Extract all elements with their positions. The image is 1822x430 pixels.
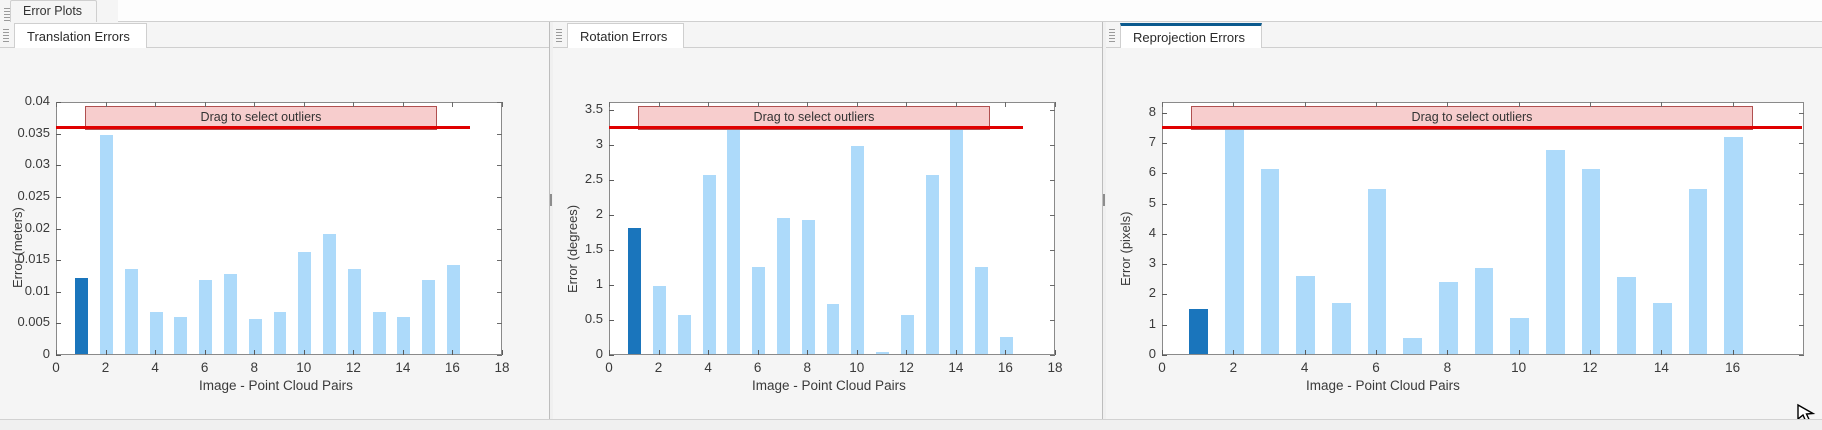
status-bar [0, 419, 1822, 430]
x-tick-mark-top [1162, 102, 1163, 107]
bar[interactable] [1653, 303, 1672, 354]
y-tick-mark [1162, 264, 1167, 265]
y-tick-mark [56, 134, 61, 135]
y-tick-label: 1 [1106, 316, 1156, 331]
y-tick-mark-right [1799, 294, 1804, 295]
x-tick-label: 16 [985, 360, 1025, 375]
x-tick-mark [1233, 350, 1234, 355]
tabbar-translation: Translation Errors [0, 22, 549, 48]
bar[interactable] [777, 218, 790, 354]
outer-tab-strip: Error Plots [0, 0, 1822, 23]
y-tick-mark [56, 355, 61, 356]
x-tick-mark [1590, 350, 1591, 355]
x-tick-mark [1447, 350, 1448, 355]
x-tick-mark [1305, 350, 1306, 355]
y-axis-label-reprojection: Error (pixels) [1118, 212, 1133, 286]
pane-translation-errors: Translation Errors Error (meters) Image … [0, 22, 549, 430]
x-tick-mark [659, 350, 660, 355]
x-tick-mark [1376, 350, 1377, 355]
x-tick-label: 0 [589, 360, 629, 375]
x-tick-label: 2 [639, 360, 679, 375]
x-tick-mark-top [56, 102, 57, 107]
bar[interactable] [1261, 169, 1280, 354]
y-tick-label: 5 [1106, 195, 1156, 210]
y-tick-mark-right [1050, 285, 1055, 286]
y-tick-mark [609, 250, 614, 251]
bar[interactable] [1617, 277, 1636, 354]
bar[interactable] [199, 280, 212, 354]
y-tick-label: 1 [553, 276, 603, 291]
x-tick-label: 12 [333, 360, 373, 375]
x-tick-label: 6 [185, 360, 225, 375]
bar[interactable] [1546, 150, 1565, 354]
x-tick-label: 16 [1713, 360, 1753, 375]
x-tick-mark [857, 350, 858, 355]
tabbar-rotation: Rotation Errors [553, 22, 1102, 48]
bar[interactable] [1475, 268, 1494, 354]
bar[interactable] [1510, 318, 1529, 354]
bar[interactable] [1689, 189, 1708, 354]
outer-tab-strip-filler [118, 0, 1822, 22]
bar[interactable] [224, 274, 237, 354]
y-tick-label: 1.5 [553, 241, 603, 256]
y-tick-label: 2.5 [553, 171, 603, 186]
outlier-threshold-line-reprojection[interactable] [1162, 126, 1802, 129]
x-tick-mark-top [807, 102, 808, 107]
bar[interactable] [950, 128, 963, 354]
y-tick-mark-right [497, 134, 502, 135]
x-tick-mark [609, 350, 610, 355]
y-tick-label: 3 [1106, 255, 1156, 270]
x-tick-mark-top [857, 102, 858, 107]
bar[interactable] [827, 304, 840, 354]
x-tick-mark-top [1447, 102, 1448, 107]
x-tick-label: 10 [284, 360, 324, 375]
y-tick-mark [1162, 355, 1167, 356]
y-tick-mark-right [1799, 355, 1804, 356]
x-tick-mark-top [155, 102, 156, 107]
outlier-slider-label: Drag to select outliers [201, 110, 322, 124]
x-tick-mark-top [956, 102, 957, 107]
bar[interactable] [373, 312, 386, 354]
bar[interactable] [1368, 189, 1387, 354]
bar[interactable] [1724, 137, 1743, 354]
x-tick-mark-top [906, 102, 907, 107]
x-tick-mark [106, 350, 107, 355]
pane-drag-grip-icon[interactable] [556, 29, 562, 42]
x-tick-label: 4 [135, 360, 175, 375]
y-tick-label: 0 [553, 346, 603, 361]
x-tick-mark [1733, 350, 1734, 355]
bar[interactable] [926, 175, 939, 354]
x-tick-label: 14 [383, 360, 423, 375]
bar[interactable] [1332, 303, 1351, 354]
axes-translation [56, 102, 502, 355]
x-tick-label: 4 [688, 360, 728, 375]
pane-reprojection-errors: Reprojection Errors Error (pixels) Image… [1106, 22, 1822, 430]
x-tick-label: 14 [1641, 360, 1681, 375]
y-tick-mark-right [497, 197, 502, 198]
splitter-handle-icon[interactable] [550, 194, 552, 206]
y-tick-mark-right [497, 323, 502, 324]
bar[interactable] [422, 280, 435, 354]
y-tick-label: 0.02 [0, 220, 50, 235]
y-tick-label: 2 [1106, 285, 1156, 300]
x-tick-mark [807, 350, 808, 355]
y-tick-mark [609, 355, 614, 356]
splitter-handle-icon[interactable] [1103, 194, 1105, 206]
x-tick-mark [906, 350, 907, 355]
pane-rotation-errors: Rotation Errors Error (degrees) Image - … [553, 22, 1102, 430]
y-tick-mark [1162, 173, 1167, 174]
x-tick-mark [254, 350, 255, 355]
x-tick-label: 12 [886, 360, 926, 375]
y-tick-mark [1162, 204, 1167, 205]
bar[interactable] [703, 175, 716, 354]
y-tick-mark-right [1799, 173, 1804, 174]
x-tick-mark-top [106, 102, 107, 107]
x-tick-mark-top [1233, 102, 1234, 107]
bar[interactable] [397, 317, 410, 354]
tab-translation-errors[interactable]: Translation Errors [14, 23, 147, 50]
x-tick-label: 6 [1356, 360, 1396, 375]
outlier-threshold-line-rotation[interactable] [609, 126, 1023, 129]
plot-translation-errors: Error (meters) Image - Point Cloud Pairs… [0, 48, 549, 430]
y-tick-label: 8 [1106, 104, 1156, 119]
y-tick-mark-right [1050, 320, 1055, 321]
x-axis-label-translation: Image - Point Cloud Pairs [199, 378, 353, 393]
x-tick-mark [304, 350, 305, 355]
y-tick-mark-right [497, 292, 502, 293]
y-tick-label: 3 [553, 136, 603, 151]
y-tick-label: 0.01 [0, 283, 50, 298]
x-tick-label: 8 [787, 360, 827, 375]
y-tick-mark-right [1799, 325, 1804, 326]
bar[interactable] [678, 315, 691, 354]
x-tick-mark-top [254, 102, 255, 107]
y-tick-mark-right [1050, 250, 1055, 251]
x-tick-mark [155, 350, 156, 355]
outlier-slider-label: Drag to select outliers [754, 110, 875, 124]
x-tick-mark-top [1055, 102, 1056, 107]
y-tick-mark [1162, 294, 1167, 295]
x-tick-label: 10 [837, 360, 877, 375]
x-tick-mark [205, 350, 206, 355]
bar[interactable] [298, 252, 311, 354]
plot-reprojection-errors: Error (pixels) Image - Point Cloud Pairs… [1106, 48, 1822, 430]
y-tick-label: 0.005 [0, 314, 50, 329]
y-tick-label: 0.035 [0, 125, 50, 140]
y-tick-label: 3.5 [553, 101, 603, 116]
x-tick-mark [56, 350, 57, 355]
x-tick-mark-top [205, 102, 206, 107]
axes-rotation [609, 102, 1055, 355]
bar[interactable] [75, 278, 88, 354]
x-tick-mark-top [609, 102, 610, 107]
y-tick-mark [1162, 234, 1167, 235]
bar[interactable] [975, 267, 988, 354]
y-tick-label: 0.5 [553, 311, 603, 326]
x-tick-label: 12 [1570, 360, 1610, 375]
y-tick-mark [56, 292, 61, 293]
x-tick-label: 0 [1142, 360, 1182, 375]
plot-rotation-errors: Error (degrees) Image - Point Cloud Pair… [553, 48, 1102, 430]
x-tick-mark-top [452, 102, 453, 107]
bar[interactable] [752, 267, 765, 354]
bar[interactable] [174, 317, 187, 354]
tab-error-plots-label: Error Plots [23, 4, 82, 18]
x-tick-mark-top [659, 102, 660, 107]
x-tick-mark [1005, 350, 1006, 355]
x-tick-mark [956, 350, 957, 355]
x-tick-mark-top [708, 102, 709, 107]
y-tick-mark [1162, 113, 1167, 114]
x-tick-mark-top [403, 102, 404, 107]
y-tick-mark-right [1799, 264, 1804, 265]
bar[interactable] [1582, 169, 1601, 354]
x-tick-mark-top [1733, 102, 1734, 107]
tab-translation-errors-label: Translation Errors [27, 29, 130, 44]
y-tick-label: 0.04 [0, 93, 50, 108]
x-tick-mark [452, 350, 453, 355]
y-tick-mark [1162, 143, 1167, 144]
y-tick-label: 4 [1106, 225, 1156, 240]
x-tick-label: 18 [1035, 360, 1075, 375]
y-tick-mark-right [1050, 145, 1055, 146]
y-tick-mark [609, 320, 614, 321]
tab-error-plots[interactable]: Error Plots [10, 0, 97, 22]
x-tick-mark [708, 350, 709, 355]
y-tick-label: 0.03 [0, 156, 50, 171]
pane-drag-grip-icon[interactable] [3, 29, 9, 42]
tab-rotation-errors[interactable]: Rotation Errors [567, 23, 684, 50]
bar[interactable] [1000, 337, 1013, 354]
y-tick-mark-right [1799, 143, 1804, 144]
x-tick-mark-top [502, 102, 503, 107]
y-tick-mark [56, 229, 61, 230]
bar[interactable] [150, 312, 163, 354]
axes-reprojection [1162, 102, 1804, 355]
bar[interactable] [628, 228, 641, 354]
x-tick-mark-top [1590, 102, 1591, 107]
bar[interactable] [323, 234, 336, 354]
bar[interactable] [125, 269, 138, 354]
x-tick-label: 18 [482, 360, 522, 375]
x-tick-label: 8 [1427, 360, 1467, 375]
x-tick-mark [1519, 350, 1520, 355]
y-tick-label: 2 [553, 206, 603, 221]
x-tick-mark [758, 350, 759, 355]
x-tick-mark [1661, 350, 1662, 355]
y-tick-label: 0 [0, 346, 50, 361]
plot-panes: Translation Errors Error (meters) Image … [0, 22, 1822, 430]
bar[interactable] [802, 220, 815, 354]
pane-drag-grip-icon[interactable] [1109, 29, 1115, 42]
x-axis-label-reprojection: Image - Point Cloud Pairs [1306, 378, 1460, 393]
x-tick-mark-top [1376, 102, 1377, 107]
y-tick-mark-right [1799, 234, 1804, 235]
tabbar-reprojection: Reprojection Errors [1106, 22, 1822, 48]
bar[interactable] [1439, 282, 1458, 354]
x-tick-label: 8 [234, 360, 274, 375]
y-tick-mark [1162, 325, 1167, 326]
y-tick-label: 7 [1106, 134, 1156, 149]
bar[interactable] [901, 315, 914, 354]
y-tick-mark [56, 260, 61, 261]
x-tick-mark [1055, 350, 1056, 355]
bar[interactable] [249, 319, 262, 354]
y-tick-label: 0 [1106, 346, 1156, 361]
x-tick-label: 0 [36, 360, 76, 375]
x-tick-label: 4 [1285, 360, 1325, 375]
bar[interactable] [727, 128, 740, 354]
tab-reprojection-errors-label: Reprojection Errors [1133, 30, 1245, 45]
bar[interactable] [1225, 130, 1244, 354]
y-tick-mark [609, 285, 614, 286]
x-tick-label: 2 [1213, 360, 1253, 375]
x-tick-mark-top [353, 102, 354, 107]
bar[interactable] [1403, 338, 1422, 354]
x-tick-mark-top [1305, 102, 1306, 107]
y-tick-mark-right [497, 260, 502, 261]
bar[interactable] [876, 352, 889, 354]
x-tick-mark-top [304, 102, 305, 107]
y-tick-mark-right [1050, 180, 1055, 181]
y-tick-mark [609, 110, 614, 111]
x-tick-mark-top [1005, 102, 1006, 107]
y-tick-mark-right [1050, 215, 1055, 216]
y-tick-mark [56, 197, 61, 198]
y-tick-mark-right [1799, 204, 1804, 205]
bar[interactable] [100, 135, 113, 354]
y-tick-mark [609, 180, 614, 181]
x-axis-label-rotation: Image - Point Cloud Pairs [752, 378, 906, 393]
bar[interactable] [653, 286, 666, 354]
y-tick-mark [609, 145, 614, 146]
y-tick-label: 0.015 [0, 251, 50, 266]
bar[interactable] [1296, 276, 1315, 354]
outlier-threshold-line-translation[interactable] [56, 126, 470, 129]
x-tick-label: 16 [432, 360, 472, 375]
x-tick-mark-top [1661, 102, 1662, 107]
y-tick-label: 6 [1106, 164, 1156, 179]
bar[interactable] [274, 312, 287, 354]
x-tick-label: 14 [936, 360, 976, 375]
y-tick-mark-right [1799, 113, 1804, 114]
x-tick-label: 10 [1499, 360, 1539, 375]
bar[interactable] [851, 146, 864, 354]
y-tick-label: 0.025 [0, 188, 50, 203]
x-tick-mark [403, 350, 404, 355]
bar[interactable] [447, 265, 460, 354]
tab-rotation-errors-label: Rotation Errors [580, 29, 667, 44]
bar[interactable] [348, 269, 361, 354]
y-tick-mark [609, 215, 614, 216]
y-tick-mark-right [497, 229, 502, 230]
x-tick-mark-top [758, 102, 759, 107]
x-tick-mark [1162, 350, 1163, 355]
y-tick-mark-right [1050, 355, 1055, 356]
outlier-slider-label: Drag to select outliers [1412, 110, 1533, 124]
x-tick-mark [502, 350, 503, 355]
y-tick-mark [56, 323, 61, 324]
y-tick-mark-right [497, 355, 502, 356]
x-tick-label: 6 [738, 360, 778, 375]
y-tick-mark-right [1050, 110, 1055, 111]
x-tick-mark [353, 350, 354, 355]
x-tick-mark-top [1519, 102, 1520, 107]
y-tick-mark [56, 165, 61, 166]
y-tick-mark-right [497, 165, 502, 166]
x-tick-label: 2 [86, 360, 126, 375]
bar[interactable] [1189, 309, 1208, 354]
